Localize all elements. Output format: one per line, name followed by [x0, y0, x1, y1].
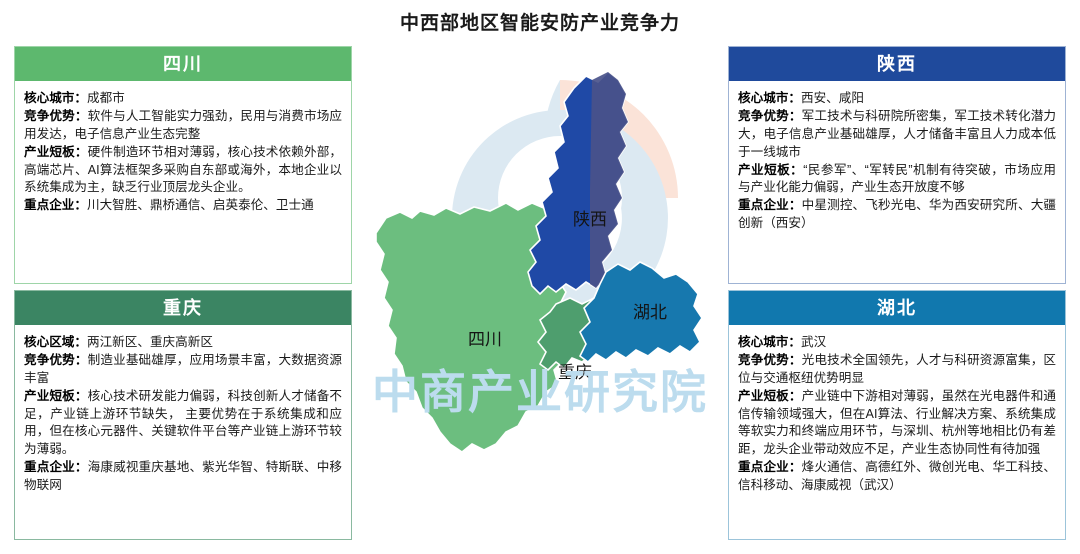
row-core-city: 核心城市：武汉	[738, 334, 1056, 352]
row-key-companies: 重点企业：烽火通信、高德红外、微创光电、华工科技、信科移动、海康威视（武汉）	[738, 459, 1056, 495]
row-key-companies: 重点企业：海康威视重庆基地、紫光华智、特斯联、中移物联网	[24, 459, 342, 495]
row-label: 重点企业：	[738, 198, 802, 212]
row-label: 产业短板：	[24, 389, 88, 403]
panel-chongqing-body: 核心区域：两江新区、重庆高新区 竞争优势：制造业基础雄厚，应用场景丰富，大数据资…	[15, 325, 351, 539]
row-text: 川大智胜、鼎桥通信、启英泰伦、卫士通	[87, 198, 314, 212]
panel-shaanxi-header: 陕西	[729, 47, 1065, 81]
row-label: 产业短板：	[24, 145, 88, 159]
panel-hubei-body: 核心城市：武汉 竞争优势：光电技术全国领先，人才与科研资源富集，区位与交通枢纽优…	[729, 325, 1065, 539]
panel-sichuan-header: 四川	[15, 47, 351, 81]
row-label: 产业短板：	[738, 163, 803, 177]
row-label: 竞争优势：	[738, 109, 802, 123]
row-advantage: 竞争优势：光电技术全国领先，人才与科研资源富集，区位与交通枢纽优势明显	[738, 352, 1056, 388]
panel-shaanxi-body: 核心城市：西安、咸阳 竞争优势：军工技术与科研院所密集，军工技术转化潜力大，电子…	[729, 81, 1065, 283]
row-text: 武汉	[801, 335, 826, 349]
row-text: 成都市	[87, 91, 125, 105]
row-label: 核心城市：	[24, 91, 87, 105]
row-text: 西安、咸阳	[801, 91, 864, 105]
panel-shaanxi: 陕西 核心城市：西安、咸阳 竞争优势：军工技术与科研院所密集，军工技术转化潜力大…	[728, 46, 1066, 284]
row-label: 产业短板：	[738, 389, 802, 403]
row-label: 重点企业：	[738, 460, 802, 474]
map-area: 四川 重庆 陕西 湖北 中商产业研究院	[360, 40, 720, 540]
row-label: 核心城市：	[738, 91, 801, 105]
row-label: 竞争优势：	[738, 353, 802, 367]
row-weakness: 产业短板：产业链中下游相对薄弱，虽然在光电器件和通信传输领域强大，但在AI算法、…	[738, 388, 1056, 460]
row-key-companies: 重点企业：中星测控、飞秒光电、华为西安研究所、大疆创新（西安）	[738, 197, 1056, 233]
row-weakness: 产业短板：核心技术研发能力偏弱，科技创新人才储备不足，产业链上游环节缺失， 主要…	[24, 388, 342, 460]
row-label: 重点企业：	[24, 198, 87, 212]
row-advantage: 竞争优势：军工技术与科研院所密集，军工技术转化潜力大，电子信息产业基础雄厚，人才…	[738, 108, 1056, 162]
panel-sichuan-body: 核心城市：成都市 竞争优势：软件与人工智能实力强劲，民用与消费市场应用发达，电子…	[15, 81, 351, 283]
panel-hubei-header: 湖北	[729, 291, 1065, 325]
panel-hubei: 湖北 核心城市：武汉 竞争优势：光电技术全国领先，人才与科研资源富集，区位与交通…	[728, 290, 1066, 540]
row-text: 两江新区、重庆高新区	[87, 335, 213, 349]
row-label: 重点企业：	[24, 460, 88, 474]
china-midwest-map: 四川 重庆 陕西 湖北 中商产业研究院	[360, 40, 720, 540]
map-label-shaanxi: 陕西	[573, 210, 607, 229]
row-core-city: 核心城市：西安、咸阳	[738, 90, 1056, 108]
row-advantage: 竞争优势：制造业基础雄厚，应用场景丰富，大数据资源丰富	[24, 352, 342, 388]
row-label: 核心城市：	[738, 335, 801, 349]
row-weakness: 产业短板：“民参军”、“军转民”机制有待突破，市场应用与产业化能力偏弱，产业生态…	[738, 162, 1056, 198]
panel-chongqing: 重庆 核心区域：两江新区、重庆高新区 竞争优势：制造业基础雄厚，应用场景丰富，大…	[14, 290, 352, 540]
row-label: 竞争优势：	[24, 353, 88, 367]
panel-sichuan: 四川 核心城市：成都市 竞争优势：软件与人工智能实力强劲，民用与消费市场应用发达…	[14, 46, 352, 284]
row-label: 核心区域：	[24, 335, 87, 349]
row-key-companies: 重点企业：川大智胜、鼎桥通信、启英泰伦、卫士通	[24, 197, 342, 215]
watermark-text: 中商产业研究院	[372, 367, 708, 418]
row-core-city: 核心城市：成都市	[24, 90, 342, 108]
page-title: 中西部地区智能安防产业竞争力	[0, 8, 1080, 35]
row-advantage: 竞争优势：软件与人工智能实力强劲，民用与消费市场应用发达，电子信息产业生态完整	[24, 108, 342, 144]
row-weakness: 产业短板：硬件制造环节相对薄弱，核心技术依赖外部，高端芯片、AI算法框架多采购自…	[24, 144, 342, 198]
row-core-area: 核心区域：两江新区、重庆高新区	[24, 334, 342, 352]
map-label-hubei: 湖北	[633, 303, 667, 322]
panel-chongqing-header: 重庆	[15, 291, 351, 325]
map-label-sichuan: 四川	[468, 330, 502, 349]
row-label: 竞争优势：	[24, 109, 88, 123]
